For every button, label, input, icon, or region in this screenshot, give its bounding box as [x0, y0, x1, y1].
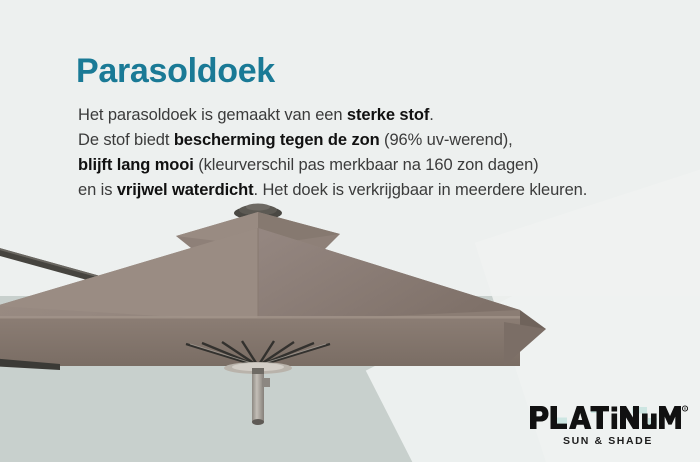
description-line-2: De stof biedt bescherming tegen de zon (… — [78, 128, 688, 153]
line1-bold-text: sterke stof — [347, 106, 429, 124]
line1-post-text: . — [429, 106, 433, 124]
brand-logo: R SUN & SHADE — [528, 404, 688, 454]
parasol-skirt — [0, 318, 520, 366]
line2-pre-text: De stof biedt — [78, 131, 174, 149]
description-paragraph: Het parasoldoek is gemaakt van een sterk… — [78, 103, 688, 203]
line2-bold-text: bescherming tegen de zon — [174, 131, 380, 149]
line2-post-text: (96% uv-werend), — [380, 131, 513, 149]
brand-wordmark-graphic: R — [528, 404, 688, 430]
line4-bold-text: vrijwel waterdicht — [117, 181, 254, 199]
slide-canvas: Parasoldoek Het parasoldoek is gemaakt v… — [0, 0, 700, 470]
line4-pre-text: en is — [78, 181, 117, 199]
svg-text:R: R — [684, 407, 687, 411]
brand-tagline: SUN & SHADE — [528, 435, 688, 447]
line3-post-text: (kleurverschil pas merkbaar na 160 zon d… — [194, 156, 539, 174]
description-line-4: en is vrijwel waterdicht. Het doek is ve… — [78, 178, 688, 203]
parasol-pole — [252, 374, 270, 425]
page-title: Parasoldoek — [76, 54, 275, 88]
line3-bold-text: blijft lang mooi — [78, 156, 194, 174]
line4-post-text: . Het doek is verkrijgbaar in meerdere k… — [254, 181, 588, 199]
line1-pre-text: Het parasoldoek is gemaakt van een — [78, 106, 347, 124]
description-line-3: blijft lang mooi (kleurverschil pas merk… — [78, 153, 688, 178]
background-bottom-white-strip — [0, 462, 700, 470]
description-line-1: Het parasoldoek is gemaakt van een sterk… — [78, 103, 688, 128]
parasol-product-image — [0, 198, 550, 428]
